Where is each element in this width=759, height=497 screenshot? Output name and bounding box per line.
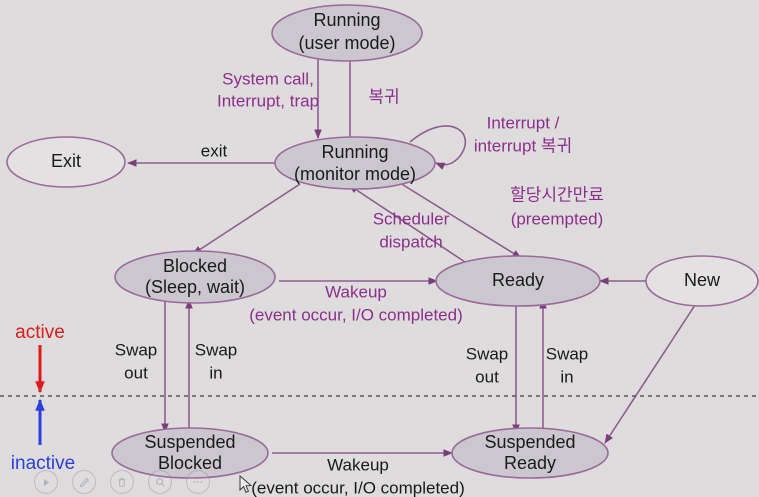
label-scheduler-line1: Scheduler (373, 209, 450, 228)
label-wakeup-top-line1: Wakeup (325, 282, 387, 301)
label-swap-out-left-line2: out (124, 363, 148, 382)
diagram-canvas: Running (user mode) Running (monitor mod… (0, 0, 759, 497)
node-running-user-mode-line1: Running (313, 10, 380, 30)
node-running-user-mode-line2: (user mode) (298, 33, 395, 53)
label-interrupt-line1: Interrupt / (487, 113, 560, 132)
label-swap-in-right-line2: in (560, 367, 573, 386)
node-blocked-line2: (Sleep, wait) (145, 277, 245, 297)
node-running-monitor-mode-line1: Running (321, 142, 388, 162)
search-icon[interactable] (148, 470, 172, 494)
node-new[interactable]: New (646, 256, 758, 306)
label-return: 복귀 (368, 87, 399, 106)
label-interrupt-line2: interrupt 복귀 (474, 136, 572, 155)
node-exit-label: Exit (51, 151, 81, 171)
node-running-monitor-mode[interactable]: Running (monitor mode) (275, 137, 435, 189)
annotation-active: active (15, 322, 65, 343)
node-blocked-line1: Blocked (163, 256, 227, 276)
edge-monitor-to-blocked (193, 184, 300, 254)
play-icon[interactable] (34, 470, 58, 494)
label-preempted-line1: 할당시간만료 (510, 185, 604, 204)
more-icon[interactable] (186, 470, 210, 494)
node-exit[interactable]: Exit (7, 137, 125, 187)
node-running-monitor-mode-line2: (monitor mode) (294, 164, 416, 184)
process-state-diagram: Running (user mode) Running (monitor mod… (0, 0, 759, 497)
label-preempted-line2: (preempted) (511, 209, 604, 228)
node-ready-label: Ready (492, 270, 544, 290)
label-swap-in-left-line1: Swap (195, 340, 238, 359)
trash-icon[interactable] (110, 470, 134, 494)
label-system-call-line2: Interrupt, trap (217, 91, 319, 110)
label-swap-out-right-line2: out (475, 367, 499, 386)
label-swap-out-left-line1: Swap (115, 340, 158, 359)
node-suspended-ready-line1: Suspended (484, 432, 575, 452)
label-swap-out-right-line1: Swap (466, 344, 509, 363)
label-wakeup-top-line2: (event occur, I/O completed) (249, 305, 463, 324)
node-running-user-mode[interactable]: Running (user mode) (272, 5, 422, 61)
label-system-call-line1: System call, (222, 69, 314, 88)
edge-new-to-suspended-ready (605, 302, 697, 443)
node-blocked[interactable]: Blocked (Sleep, wait) (115, 251, 275, 303)
label-swap-in-right-line1: Swap (546, 344, 589, 363)
pencil-icon[interactable] (72, 470, 96, 494)
node-ready[interactable]: Ready (436, 256, 600, 306)
node-new-label: New (684, 270, 721, 290)
node-suspended-blocked-line1: Suspended (144, 432, 235, 452)
label-scheduler-line2: dispatch (379, 232, 442, 251)
label-swap-in-left-line2: in (209, 363, 222, 382)
label-exit: exit (201, 141, 228, 160)
video-toolbar[interactable] (0, 467, 759, 497)
